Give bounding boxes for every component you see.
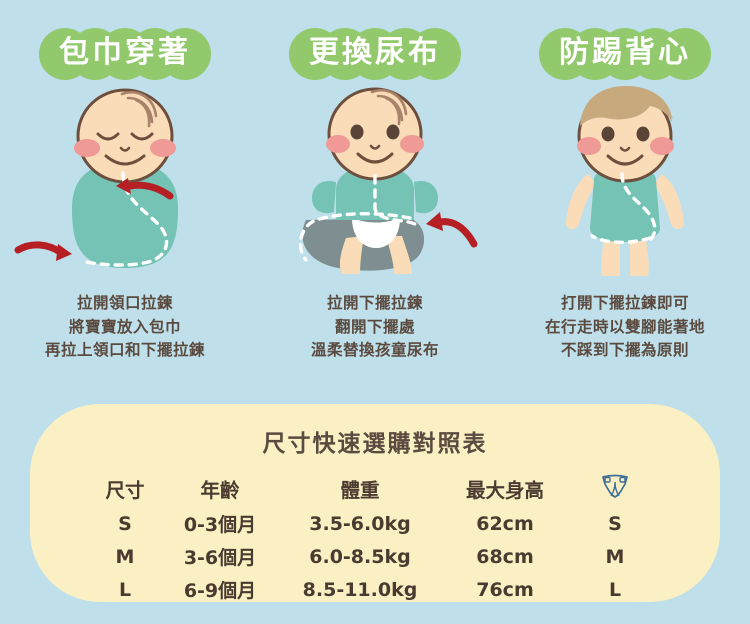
left-eye-open <box>351 125 364 140</box>
cell-size: S <box>90 507 160 540</box>
left-eye-open <box>602 127 615 142</box>
step2-caption-line3: 溫柔替換孩童尿布 <box>250 339 500 362</box>
cell-weight: 8.5-11.0kg <box>280 573 440 606</box>
left-cheek <box>74 139 100 157</box>
cell-height: 76cm <box>440 573 570 606</box>
cell-age: 3-6個月 <box>160 540 280 573</box>
cell-weight: 6.0-8.5kg <box>280 540 440 573</box>
header-age: 年齡 <box>160 470 280 507</box>
sitting-baby-figure <box>260 78 490 278</box>
step3-badge-label: 防踢背心 <box>543 32 707 76</box>
step3-caption: 打開下擺拉鍊即可 在行走時以雙腳能著地 不踩到下擺為原則 <box>500 292 750 362</box>
step3-illustration <box>500 78 750 278</box>
header-diaper-size <box>570 470 660 507</box>
table-row: S 0-3個月 3.5-6.0kg 62cm S <box>90 507 660 540</box>
step1-caption-line2: 將寶寶放入包巾 <box>0 316 250 339</box>
cell-weight: 3.5-6.0kg <box>280 507 440 540</box>
left-cheek <box>326 135 350 153</box>
baby-head <box>78 90 172 182</box>
right-cheek <box>400 135 424 153</box>
cell-height: 68cm <box>440 540 570 573</box>
header-height: 最大身高 <box>440 470 570 507</box>
right-eye-open <box>387 125 400 140</box>
step2-caption-line1: 拉開下擺拉鍊 <box>250 292 500 315</box>
cell-height: 62cm <box>440 507 570 540</box>
right-cheek <box>150 139 176 157</box>
size-chart-table: 尺寸 年齡 體重 最大身高 <box>90 470 660 606</box>
step-diaper-change: 更換尿布 <box>250 0 500 380</box>
diaper-icon <box>600 473 630 504</box>
header-size: 尺寸 <box>90 470 160 507</box>
step1-caption-line3: 再拉上領口和下擺拉鍊 <box>0 339 250 362</box>
step2-caption: 拉開下擺拉鍊 翻開下擺處 溫柔替換孩童尿布 <box>250 292 500 362</box>
step2-badge-wrap: 更換尿布 <box>293 26 457 82</box>
table-header-row: 尺寸 年齡 體重 最大身高 <box>90 470 660 507</box>
table-row: L 6-9個月 8.5-11.0kg 76cm L <box>90 573 660 606</box>
step3-caption-line2: 在行走時以雙腳能著地 <box>500 316 750 339</box>
cell-diaper: S <box>570 507 660 540</box>
step1-caption-line1: 拉開領口拉鍊 <box>0 292 250 315</box>
right-arm <box>414 181 438 213</box>
cell-age: 0-3個月 <box>160 507 280 540</box>
swaddled-baby-figure <box>10 78 240 278</box>
step3-caption-line3: 不踩到下擺為原則 <box>500 339 750 362</box>
arrow-hem <box>18 244 72 261</box>
arrow-open-hem <box>426 212 474 244</box>
step1-badge-label: 包巾穿著 <box>43 32 207 76</box>
table-row: M 3-6個月 6.0-8.5kg 68cm M <box>90 540 660 573</box>
step-anti-kick-vest: 防踢背心 <box>500 0 750 380</box>
size-chart-panel: 尺寸快速選購對照表 尺寸 年齡 體重 最大身高 <box>30 404 720 602</box>
step-swaddle-wearing: 包巾穿著 <box>0 0 250 380</box>
step2-illustration <box>250 78 500 278</box>
cell-size: L <box>90 573 160 606</box>
standing-toddler-figure <box>510 78 740 278</box>
cell-size: M <box>90 540 160 573</box>
left-cheek <box>577 137 601 155</box>
right-eye-open <box>637 127 650 142</box>
step3-caption-line1: 打開下擺拉鍊即可 <box>500 292 750 315</box>
step2-badge-label: 更換尿布 <box>293 32 457 76</box>
size-chart-title: 尺寸快速選購對照表 <box>30 424 720 458</box>
step2-caption-line2: 翻開下擺處 <box>250 316 500 339</box>
step3-badge-wrap: 防踢背心 <box>543 26 707 82</box>
baby-head <box>329 89 421 179</box>
step1-badge-wrap: 包巾穿著 <box>43 26 207 82</box>
cell-age: 6-9個月 <box>160 573 280 606</box>
infographic-canvas: 包巾穿著 <box>0 0 750 624</box>
step1-caption: 拉開領口拉鍊 將寶寶放入包巾 再拉上領口和下擺拉鍊 <box>0 292 250 362</box>
step1-illustration <box>0 78 250 278</box>
table-body: S 0-3個月 3.5-6.0kg 62cm S M 3-6個月 6.0-8.5… <box>90 507 660 606</box>
steps-row: 包巾穿著 <box>0 0 750 380</box>
left-arm <box>312 181 336 213</box>
cell-diaper: M <box>570 540 660 573</box>
cell-diaper: L <box>570 573 660 606</box>
header-weight: 體重 <box>280 470 440 507</box>
right-cheek <box>650 137 674 155</box>
